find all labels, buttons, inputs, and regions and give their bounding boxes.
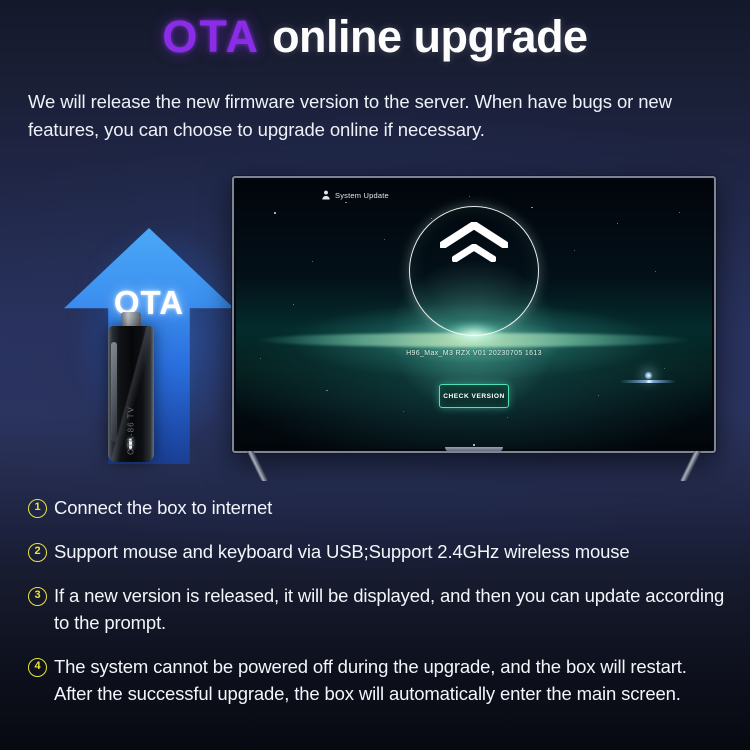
list-item: 1 Connect the box to internet bbox=[28, 494, 728, 521]
stick-highlight bbox=[111, 342, 117, 442]
bullet-text: Support mouse and keyboard via USB;Suppo… bbox=[54, 538, 728, 565]
tv-screen: System Update H96_Max_M3 RZX V01 2023070… bbox=[236, 180, 712, 449]
system-update-header: System Update bbox=[322, 190, 389, 200]
bullet-number: 4 bbox=[28, 658, 47, 677]
list-item: 4 The system cannot be powered off durin… bbox=[28, 653, 728, 707]
person-icon bbox=[322, 190, 330, 200]
tv-frame: System Update H96_Max_M3 RZX V01 2023070… bbox=[232, 176, 716, 453]
bullet-text: If a new version is released, it will be… bbox=[54, 582, 728, 636]
bullet-number: 2 bbox=[28, 543, 47, 562]
lens-flare-icon bbox=[620, 380, 676, 383]
bullet-text: Connect the box to internet bbox=[54, 494, 728, 521]
chevron-up-icon-2 bbox=[452, 244, 496, 262]
instruction-list: 1 Connect the box to internet 2 Support … bbox=[28, 494, 728, 724]
television: System Update H96_Max_M3 RZX V01 2023070… bbox=[232, 176, 716, 453]
bullet-number: 3 bbox=[28, 587, 47, 606]
ota-upgrade-page: OTAonline upgrade We will release the ne… bbox=[0, 0, 750, 750]
bullet-text: The system cannot be powered off during … bbox=[54, 653, 728, 707]
page-title-accent: OTA bbox=[162, 11, 260, 62]
tv-chin-bar bbox=[445, 447, 503, 452]
page-title: OTAonline upgrade bbox=[0, 8, 750, 66]
stick-brand-text: OTA-86 TV bbox=[127, 403, 136, 459]
system-update-label: System Update bbox=[335, 191, 389, 200]
list-item: 3 If a new version is released, it will … bbox=[28, 582, 728, 636]
firmware-version-text: H96_Max_M3 RZX V01 20230705 1613 bbox=[236, 350, 712, 357]
page-title-rest: online upgrade bbox=[272, 11, 588, 62]
intro-paragraph: We will release the new firmware version… bbox=[28, 88, 728, 144]
list-item: 2 Support mouse and keyboard via USB;Sup… bbox=[28, 538, 728, 565]
tv-stick-device: OTA-86 TV bbox=[108, 312, 154, 462]
tv-power-led bbox=[473, 444, 475, 446]
bullet-number: 1 bbox=[28, 499, 47, 518]
check-version-button[interactable]: CHECK VERSION bbox=[439, 384, 509, 408]
